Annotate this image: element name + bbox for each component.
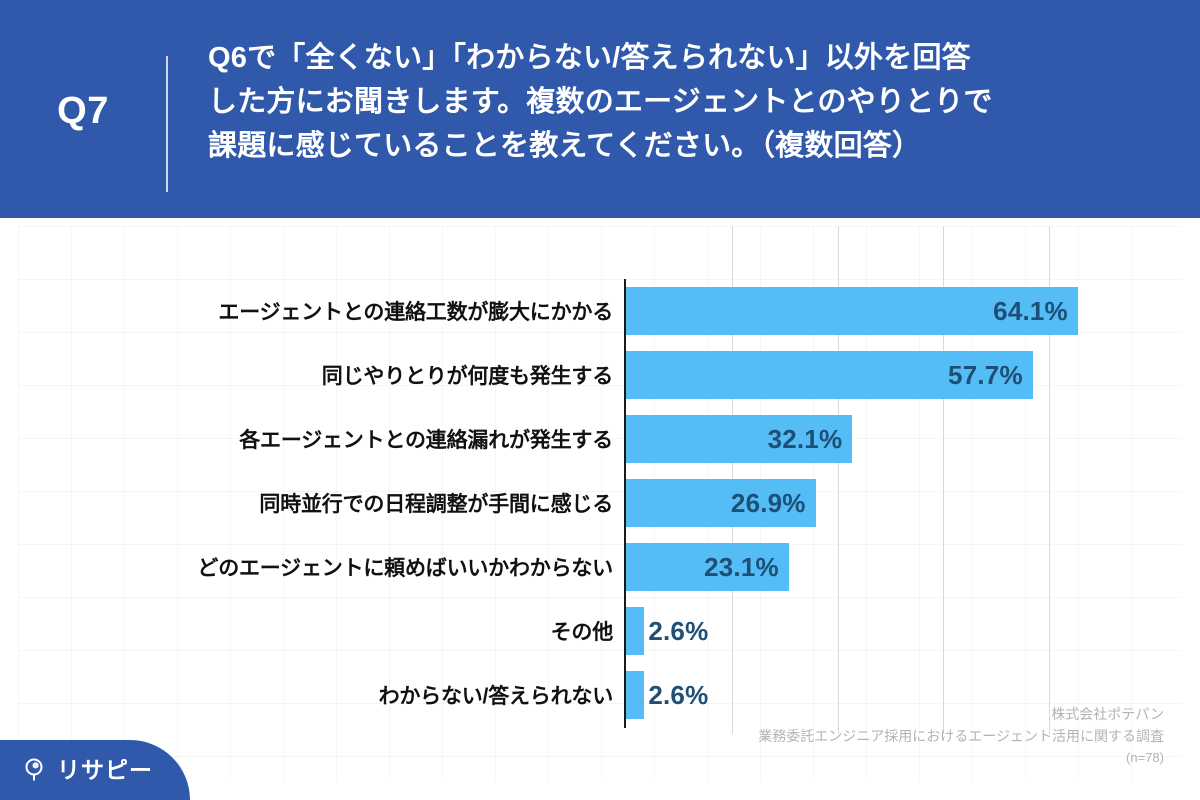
logo-text: リサピー bbox=[57, 759, 153, 782]
slide-root: Q7 Q6で「全くない」「わからない/答えられない」以外を回答 した方にお聞きし… bbox=[0, 0, 1200, 800]
bar-row: どのエージェントに頼めばいいかわからない23.1% bbox=[18, 535, 1182, 599]
credit-sample-size: (n=78) bbox=[758, 748, 1164, 768]
bar-value-label: 32.1% bbox=[626, 415, 842, 463]
bar-category-label: その他 bbox=[551, 599, 613, 663]
bar-category-label: どのエージェントに頼めばいいかわからない bbox=[197, 535, 613, 599]
bar-value-label: 64.1% bbox=[626, 287, 1068, 335]
credit-company: 株式会社ポテパン bbox=[758, 704, 1164, 726]
bar-row: その他2.6% bbox=[18, 599, 1182, 663]
logo[interactable]: リサピー bbox=[0, 740, 190, 800]
bar[interactable] bbox=[626, 671, 644, 719]
credit-survey-title: 業務委託エンジニア採用におけるエージェント活用に関する調査 bbox=[758, 726, 1164, 748]
chart-card: エージェントとの連絡工数が膨大にかかる64.1%同じやりとりが何度も発生する57… bbox=[18, 226, 1182, 780]
magnifier-icon bbox=[22, 757, 48, 783]
question-line-3: 課題に感じていることを教えてください。（複数回答） bbox=[208, 124, 1170, 168]
question-number: Q7 bbox=[0, 92, 166, 130]
bar-row: 同時並行での日程調整が手間に感じる26.9% bbox=[18, 471, 1182, 535]
bar-row: 同じやりとりが何度も発生する57.7% bbox=[18, 343, 1182, 407]
bar-value-label: 2.6% bbox=[648, 671, 708, 719]
bar-category-label: わからない/答えられない bbox=[379, 663, 613, 727]
bar-value-label: 26.9% bbox=[626, 479, 806, 527]
bar-value-label: 23.1% bbox=[626, 543, 779, 591]
bar-chart: エージェントとの連絡工数が膨大にかかる64.1%同じやりとりが何度も発生する57… bbox=[18, 226, 1182, 780]
bar-category-label: 同時並行での日程調整が手間に感じる bbox=[259, 471, 613, 535]
slide-header: Q7 Q6で「全くない」「わからない/答えられない」以外を回答 した方にお聞きし… bbox=[0, 0, 1200, 218]
question-line-2: した方にお聞きします。複数のエージェントとのやりとりで bbox=[208, 80, 1170, 124]
chart-credits: 株式会社ポテパン 業務委託エンジニア採用におけるエージェント活用に関する調査 (… bbox=[758, 704, 1164, 768]
header-divider bbox=[166, 56, 168, 192]
bar[interactable] bbox=[626, 607, 644, 655]
bar-rows: エージェントとの連絡工数が膨大にかかる64.1%同じやりとりが何度も発生する57… bbox=[18, 226, 1182, 780]
bar-row: 各エージェントとの連絡漏れが発生する32.1% bbox=[18, 407, 1182, 471]
bar-category-label: エージェントとの連絡工数が膨大にかかる bbox=[218, 279, 613, 343]
question-text: Q6で「全くない」「わからない/答えられない」以外を回答 した方にお聞きします。… bbox=[208, 36, 1170, 168]
bar-row: エージェントとの連絡工数が膨大にかかる64.1% bbox=[18, 279, 1182, 343]
bar-value-label: 57.7% bbox=[626, 351, 1023, 399]
question-line-1: Q6で「全くない」「わからない/答えられない」以外を回答 bbox=[208, 36, 1170, 80]
bar-category-label: 同じやりとりが何度も発生する bbox=[322, 343, 613, 407]
bar-category-label: 各エージェントとの連絡漏れが発生する bbox=[239, 407, 613, 471]
bar-value-label: 2.6% bbox=[648, 607, 708, 655]
